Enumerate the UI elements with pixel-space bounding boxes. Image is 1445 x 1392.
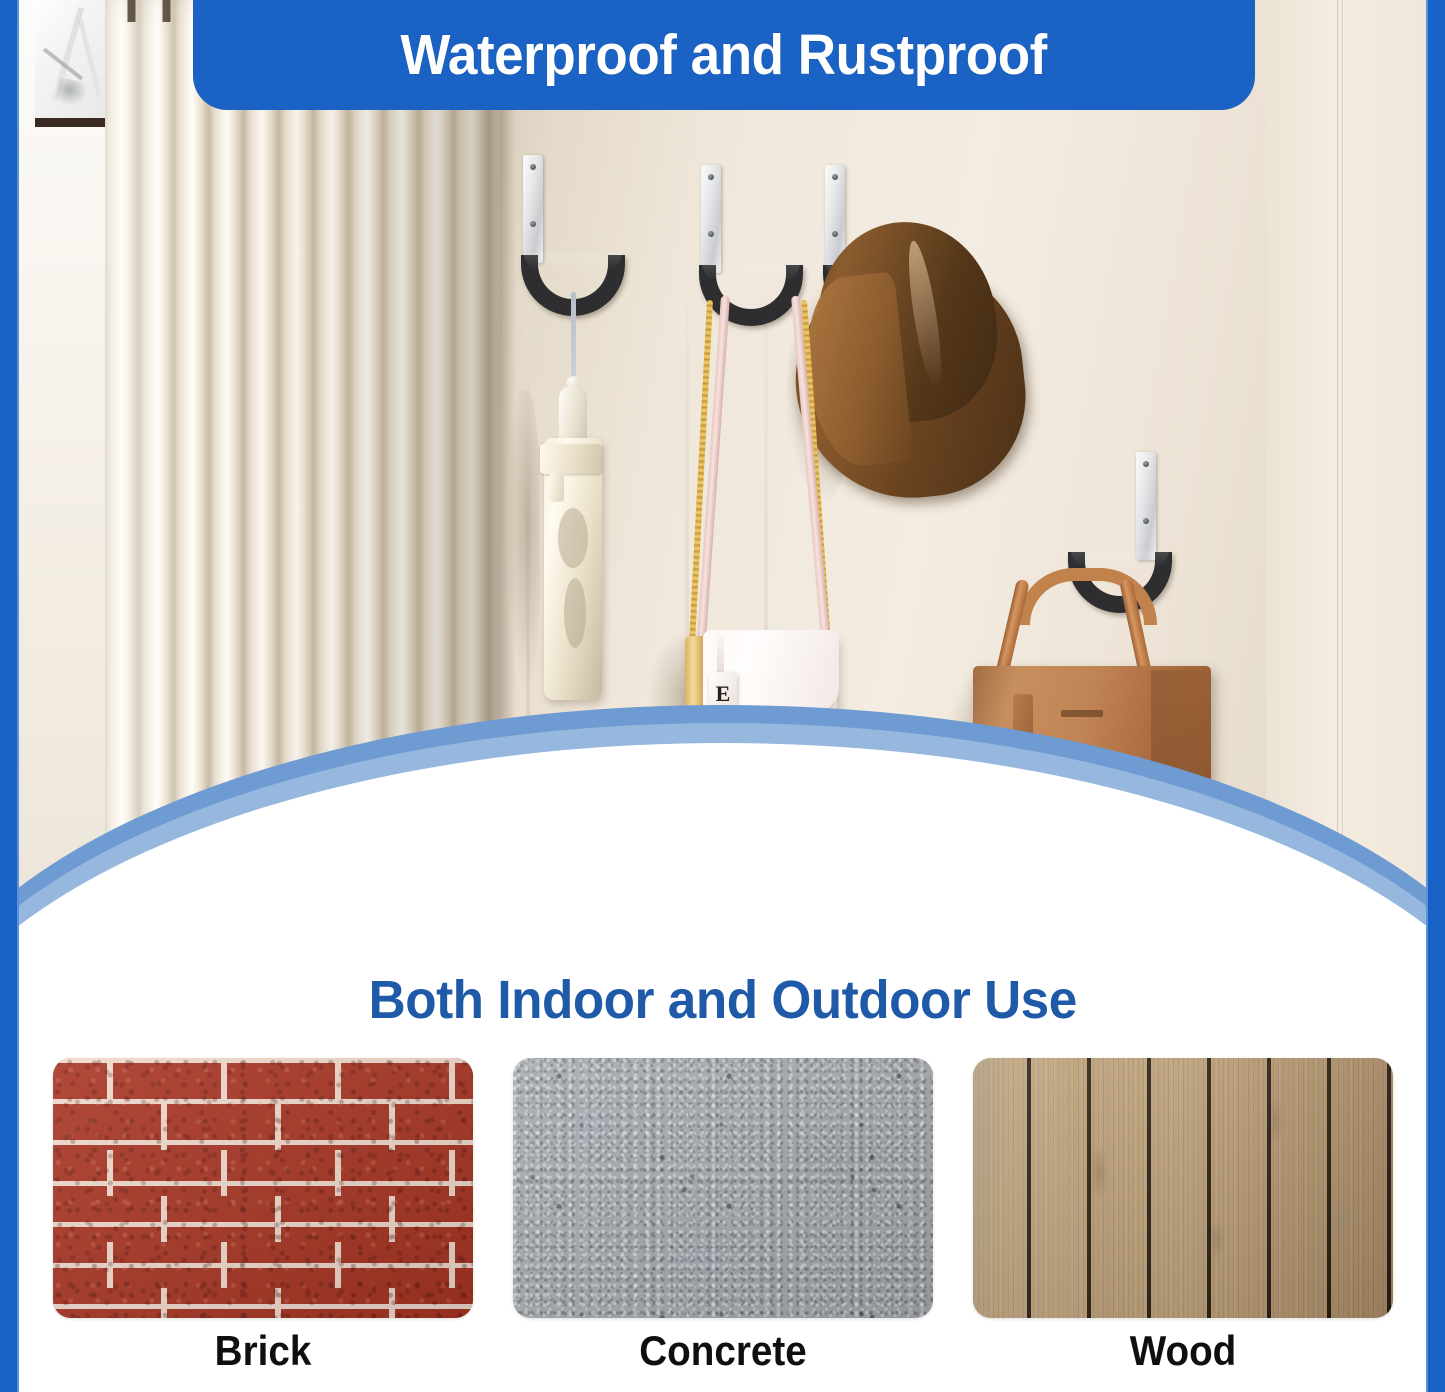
white-handbag: E <box>673 300 853 800</box>
folded-umbrella <box>542 380 604 706</box>
handbag-clasp <box>785 730 803 743</box>
headline-text: Waterproof and Rustproof <box>401 27 1047 110</box>
tote-hang-tag <box>1013 694 1033 770</box>
tote-side-panel <box>1151 670 1211 832</box>
hook-screw <box>1143 461 1149 467</box>
wall-hook-1 <box>513 155 633 315</box>
plain-wall <box>19 0 105 955</box>
subtitle-text: Both Indoor and Outdoor Use <box>368 973 1076 1027</box>
umbrella-fold <box>564 578 586 648</box>
hook-mounting-plate <box>523 155 543 263</box>
hook-screw <box>708 174 714 180</box>
framed-artwork <box>35 0 111 127</box>
slat-wall-shading <box>105 0 500 955</box>
handbag-chain <box>801 300 832 652</box>
hook-mounting-plate <box>1136 452 1156 560</box>
frame-border-right <box>1426 0 1445 1392</box>
hook-screw <box>708 231 714 237</box>
hook-screw <box>832 174 838 180</box>
handbag-charm-base <box>709 709 737 720</box>
surface-swatch-row <box>0 1058 1445 1323</box>
frame-border-left <box>0 0 19 1392</box>
concrete-shading <box>513 1058 933 1318</box>
umbrella-shadow <box>508 390 540 686</box>
surface-label-row: Brick Concrete Wood <box>0 1330 1445 1392</box>
product-photo: E <box>19 0 1426 955</box>
wood-shading <box>973 1058 1393 1318</box>
label-brick: Brick <box>69 1330 455 1392</box>
product-infographic: E Waterproof and Rustproof Both Ind <box>0 0 1445 1392</box>
headline-banner: Waterproof and Rustproof <box>193 0 1255 110</box>
hook-screw <box>1143 518 1149 524</box>
label-wood: Wood <box>989 1330 1375 1392</box>
umbrella-strap <box>571 292 576 384</box>
brick-shading <box>53 1058 473 1318</box>
tote-logo <box>1061 710 1103 717</box>
umbrella-handle <box>559 386 587 442</box>
swatch-brick <box>53 1058 473 1318</box>
door-panel-seam <box>1337 0 1343 955</box>
swatch-concrete <box>513 1058 933 1318</box>
umbrella-band <box>540 444 602 474</box>
door-panel <box>1266 0 1426 955</box>
leather-tote-bag <box>965 574 1219 838</box>
umbrella-tab <box>550 472 564 502</box>
subtitle-row: Both Indoor and Outdoor Use <box>0 955 1445 1045</box>
handbag-gold-trim <box>685 636 703 764</box>
label-concrete: Concrete <box>529 1330 915 1392</box>
umbrella-fold <box>558 508 588 568</box>
hook-screw <box>530 164 536 170</box>
handbag-strap <box>791 296 830 641</box>
swatch-wood <box>973 1058 1393 1318</box>
hook-mounting-plate <box>701 165 721 273</box>
hook-screw <box>530 221 536 227</box>
